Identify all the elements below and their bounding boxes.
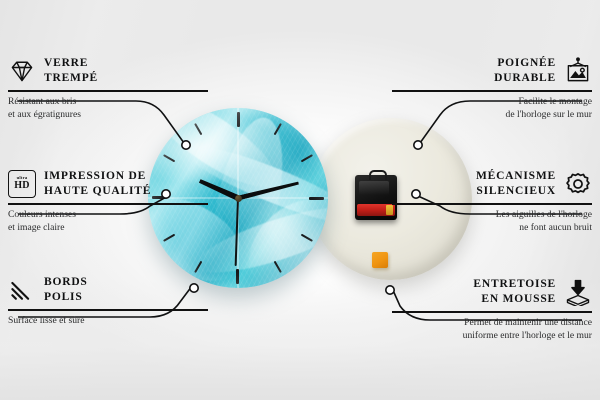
callout-header: VERRE TREMPÉ	[8, 56, 208, 85]
callout-description: Résistant aux bris et aux égratignures	[8, 96, 208, 121]
ultra-hd-badge-icon: ultra HD	[8, 170, 36, 198]
callout-description: Permet de maintenir une distance uniform…	[392, 317, 592, 342]
callout-description: Couleurs intenses et image claire	[8, 209, 208, 234]
callout-title: VERRE TREMPÉ	[44, 56, 98, 85]
connector-endpoint-1	[182, 141, 190, 149]
callout-description: Surface lisse et sûre	[8, 315, 208, 328]
feature-callout-print-quality: ultra HD IMPRESSION DE HAUTE QUALITÉ Cou…	[8, 169, 208, 234]
callout-header: MÉCANISME SILENCIEUX	[392, 169, 592, 198]
feature-callout-polished-edges: BORDS POLIS Surface lisse et sûre	[8, 275, 208, 328]
callout-rule	[392, 90, 592, 92]
callout-title: IMPRESSION DE HAUTE QUALITÉ	[44, 169, 151, 198]
feature-callout-durable-handle: POIGNÉE DURABLE Facilite le montage de l…	[392, 56, 592, 121]
callout-title: POIGNÉE DURABLE	[494, 56, 556, 85]
connector-endpoint-4	[414, 141, 422, 149]
callout-rule	[8, 90, 208, 92]
callout-header: POIGNÉE DURABLE	[392, 56, 592, 85]
callout-title: ENTRETOISE EN MOUSSE	[473, 277, 556, 306]
callout-rule	[392, 203, 592, 205]
callout-rule	[392, 311, 592, 313]
feature-callout-silent-mechanism: MÉCANISME SILENCIEUX Les aiguilles de l'…	[392, 169, 592, 234]
callout-rule	[8, 203, 208, 205]
infographic-canvas: VERRE TREMPÉ Résistant aux bris et aux é…	[0, 0, 600, 400]
feature-callout-foam-spacer: ENTRETOISE EN MOUSSE Permet de maintenir…	[392, 277, 592, 342]
hd-badge-main-text: HD	[14, 181, 29, 192]
callout-header: BORDS POLIS	[8, 275, 208, 304]
callout-title: BORDS POLIS	[44, 275, 88, 304]
foam-spacer-icon	[564, 278, 592, 306]
callout-title: MÉCANISME SILENCIEUX	[476, 169, 556, 198]
gear-icon	[564, 170, 592, 198]
feature-callout-tempered-glass: VERRE TREMPÉ Résistant aux bris et aux é…	[8, 56, 208, 121]
callout-description: Facilite le montage de l'horloge sur le …	[392, 96, 592, 121]
callout-rule	[8, 309, 208, 311]
callout-description: Les aiguilles de l'horloge ne font aucun…	[392, 209, 592, 234]
picture-hanger-icon	[564, 57, 592, 85]
diamond-icon	[8, 57, 36, 85]
callout-header: ultra HD IMPRESSION DE HAUTE QUALITÉ	[8, 169, 208, 198]
callout-header: ENTRETOISE EN MOUSSE	[392, 277, 592, 306]
polished-edges-icon	[8, 276, 36, 304]
